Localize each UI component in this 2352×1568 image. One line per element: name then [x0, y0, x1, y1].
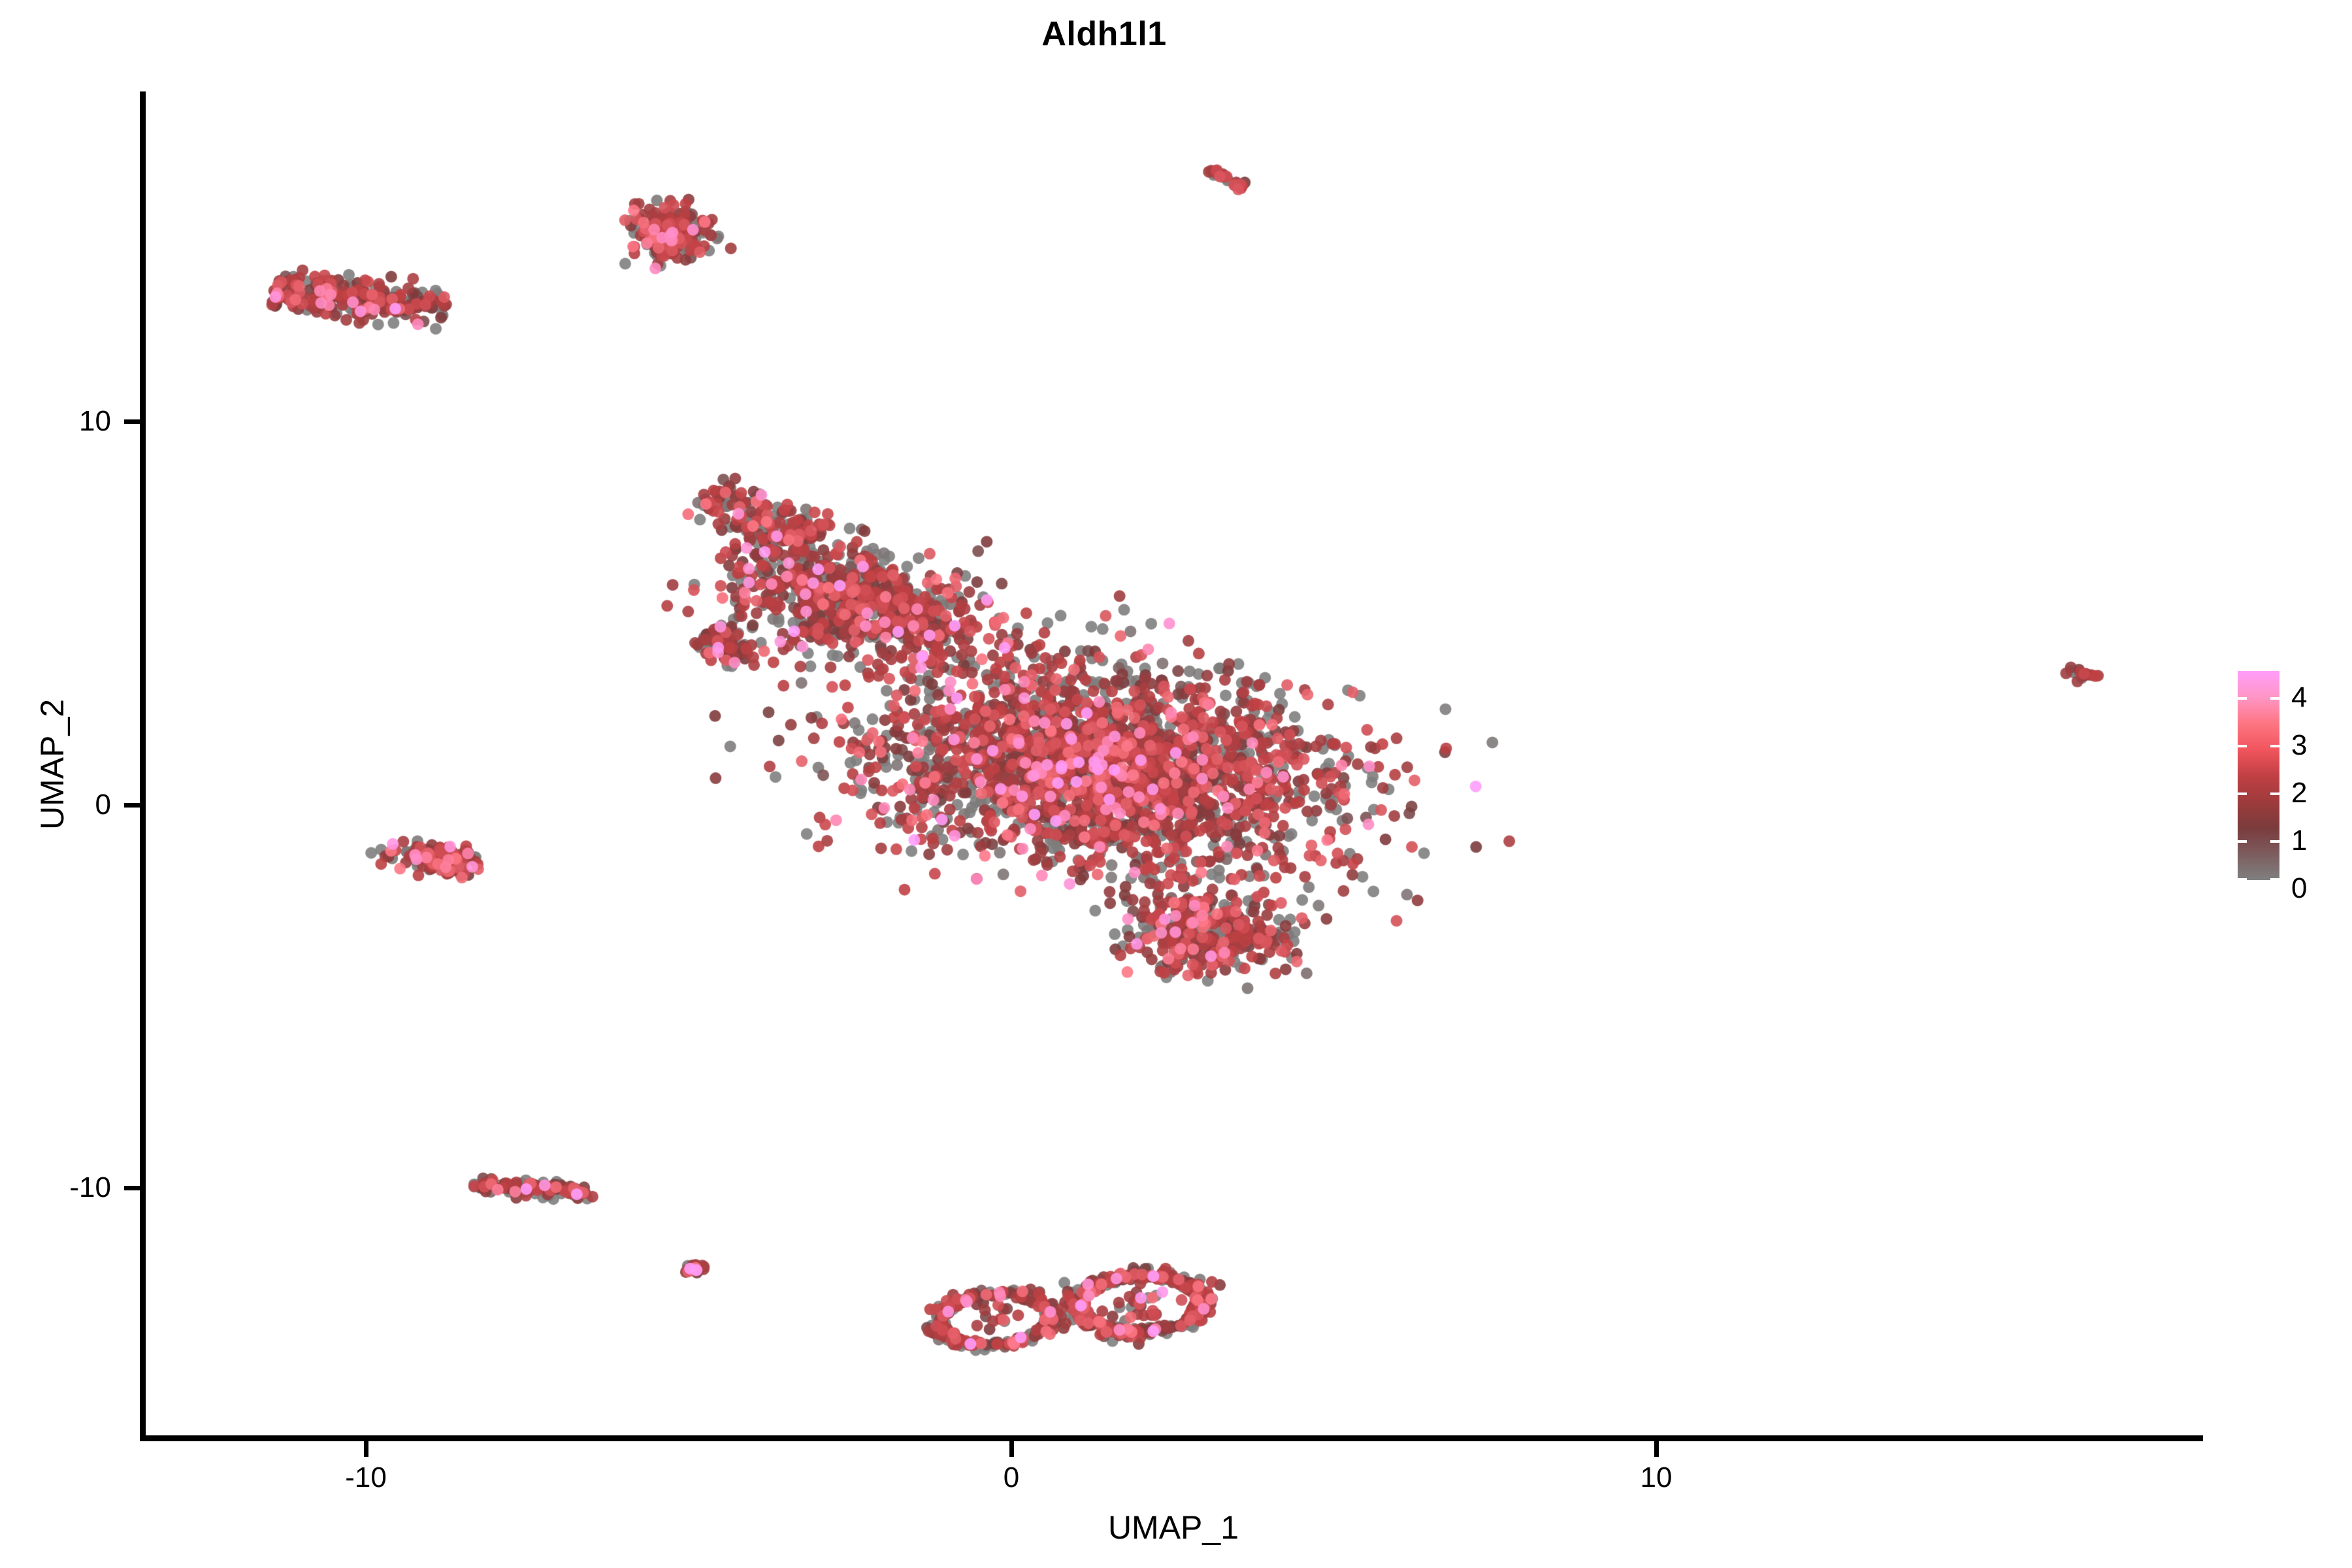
legend-colorbar: 4 3 2 1 0	[2238, 666, 2349, 889]
y-tick-mark-0	[124, 803, 140, 808]
x-tick-label-0: 0	[946, 1463, 1077, 1492]
x-axis-title: UMAP_1	[144, 1509, 2203, 1546]
scatter-points-canvas	[144, 91, 2203, 1439]
y-tick-mark-10	[124, 419, 140, 424]
colorbar-tick-3-left	[2238, 745, 2247, 747]
y-axis-line	[140, 91, 146, 1441]
x-tick-label-10: 10	[1591, 1463, 1722, 1492]
colorbar-tick-1-right	[2270, 840, 2279, 843]
colorbar-tick-0-left	[2238, 878, 2247, 881]
colorbar-label-0: 0	[2291, 874, 2307, 903]
x-axis-line	[144, 1435, 2203, 1441]
colorbar-tick-2-left	[2238, 792, 2247, 795]
x-tick-mark--10	[364, 1441, 368, 1457]
y-axis-title: UMAP_2	[34, 470, 71, 1058]
colorbar-label-2: 2	[2291, 779, 2307, 808]
x-tick-label--10: -10	[301, 1463, 431, 1492]
colorbar-tick-1-left	[2238, 840, 2247, 843]
colorbar-label-1: 1	[2291, 826, 2307, 855]
colorbar-label-4: 4	[2291, 683, 2307, 712]
y-tick-label--10: -10	[0, 1173, 111, 1202]
colorbar-label-3: 3	[2291, 731, 2307, 760]
y-tick-mark--10	[124, 1186, 140, 1190]
colorbar-gradient	[2238, 671, 2279, 880]
umap-feature-plot: Aldh1l1 10 0 -10 -10 0 10 UMAP_1 UMAP_2 …	[0, 0, 2352, 1568]
page-title: Aldh1l1	[0, 14, 2208, 54]
y-tick-label-10: 10	[0, 407, 111, 436]
x-tick-mark-10	[1654, 1441, 1659, 1457]
plot-panel	[144, 91, 2203, 1439]
colorbar-tick-0-right	[2270, 878, 2279, 881]
colorbar-tick-3-right	[2270, 745, 2279, 747]
colorbar-tick-4-left	[2238, 697, 2247, 700]
colorbar-tick-2-right	[2270, 792, 2279, 795]
colorbar-tick-4-right	[2270, 697, 2279, 700]
x-tick-mark-0	[1009, 1441, 1014, 1457]
